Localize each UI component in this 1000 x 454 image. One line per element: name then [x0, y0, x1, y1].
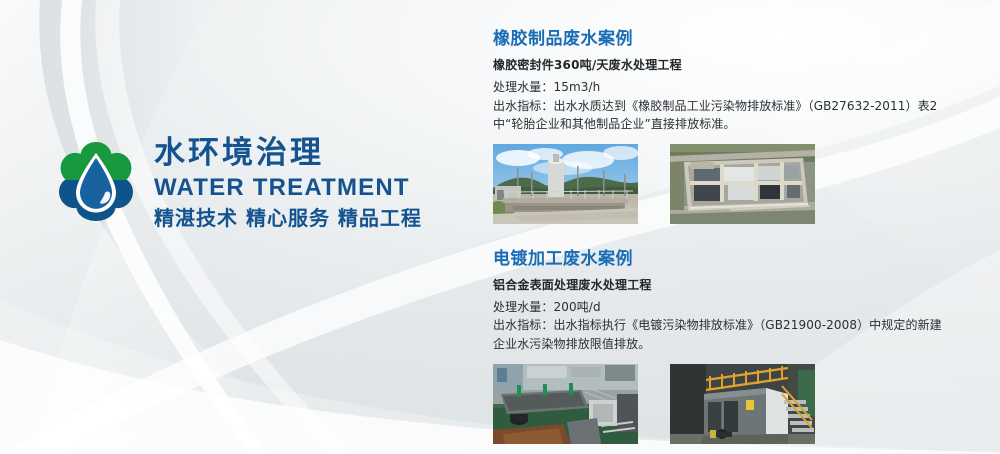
photo-rubber-wastewater-plant-exterior — [493, 144, 638, 224]
case-capacity: 处理水量：15m3/h — [493, 78, 963, 97]
case-standard: 出水指标：出水水质达到《橡胶制品工业污染物排放标准》（GB27632-2011）… — [493, 97, 945, 134]
case-photo-row — [493, 144, 963, 224]
photo-electroplating-equipment-room-stairs — [670, 364, 815, 444]
case-capacity: 处理水量：200吨/d — [493, 298, 963, 317]
brand-name-cn: 水环境治理 — [154, 138, 422, 169]
case-electroplating-wastewater: 电镀加工废水案例 铝合金表面处理废水处理工程 处理水量：200吨/d 出水指标：… — [493, 244, 963, 444]
case-subtitle: 铝合金表面处理废水处理工程 — [493, 276, 963, 293]
brand-logo: 水环境治理 WATER TREATMENT 精湛技术 精心服务 精品工程 — [54, 138, 422, 228]
photo-electroplating-wastewater-treatment-tanks — [493, 364, 638, 444]
brand-slogan: 精湛技术 精心服务 精品工程 — [154, 208, 422, 228]
brand-name-en: WATER TREATMENT — [154, 176, 422, 200]
water-drop-flower-logo-icon — [54, 139, 138, 227]
case-photo-row — [493, 364, 963, 444]
water-treatment-banner: 水环境治理 WATER TREATMENT 精湛技术 精心服务 精品工程 橡胶制… — [0, 0, 1000, 454]
photo-rubber-wastewater-aeration-basins-aerial — [670, 144, 815, 224]
case-rubber-wastewater: 橡胶制品废水案例 橡胶密封件360吨/天废水处理工程 处理水量：15m3/h 出… — [493, 24, 963, 224]
case-standard: 出水指标：出水指标执行《电镀污染物排放标准》（GB21900-2008）中规定的… — [493, 316, 945, 353]
brand-text: 水环境治理 WATER TREATMENT 精湛技术 精心服务 精品工程 — [154, 138, 422, 228]
case-list: 橡胶制品废水案例 橡胶密封件360吨/天废水处理工程 处理水量：15m3/h 出… — [493, 24, 963, 444]
case-title: 电镀加工废水案例 — [493, 244, 963, 269]
case-title: 橡胶制品废水案例 — [493, 24, 963, 49]
case-subtitle: 橡胶密封件360吨/天废水处理工程 — [493, 56, 963, 73]
